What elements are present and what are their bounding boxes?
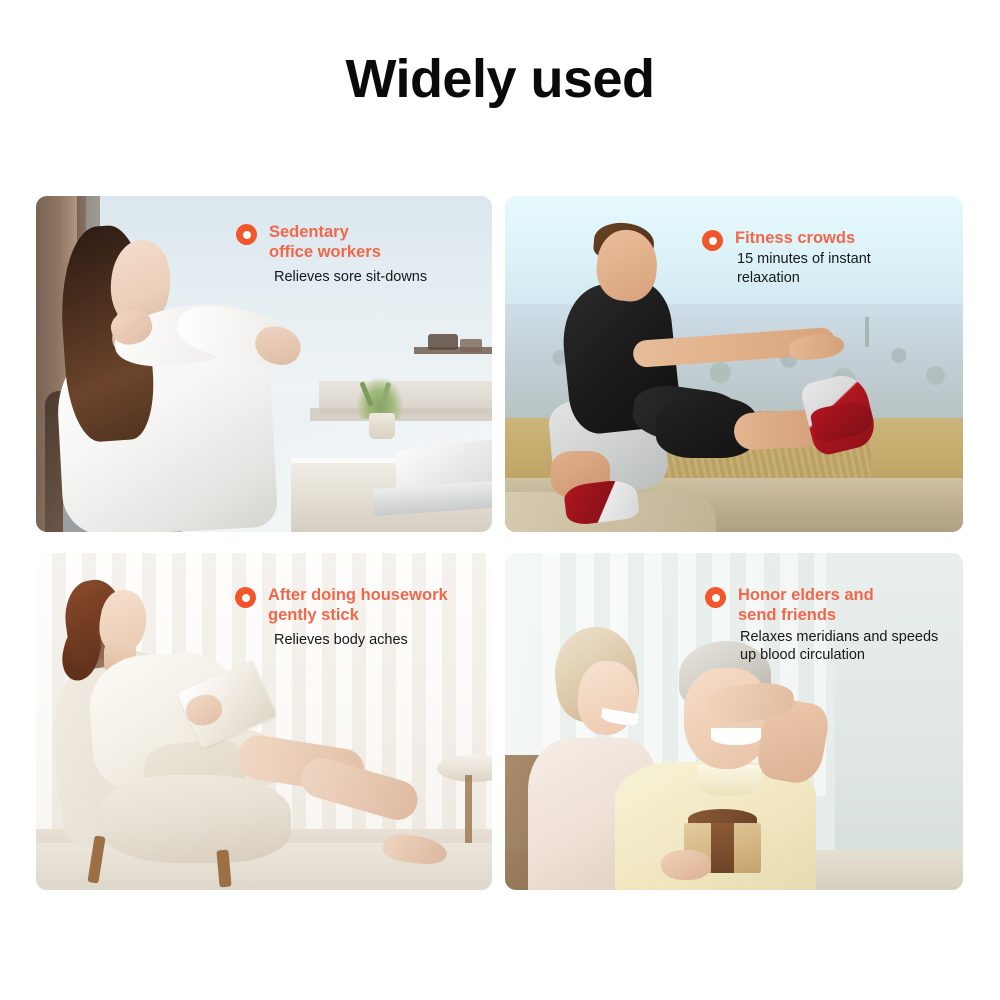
scenario-heading: Fitness crowds <box>735 229 855 247</box>
page-title: Widely used <box>0 52 1000 106</box>
scenario-heading: After doing housework gently stick <box>268 586 448 624</box>
usage-scenario-grid: Sedentary office workers Relieves sore s… <box>36 196 963 890</box>
scenario-subtitle: 15 minutes of instant relaxation <box>737 250 871 287</box>
ring-bullet-icon <box>705 587 726 608</box>
scenario-text-block: After doing housework gently stick Relie… <box>235 585 448 649</box>
scenario-heading: Honor elders and send friends <box>738 586 874 624</box>
scenario-card-after-doing-housework[interactable]: After doing housework gently stick Relie… <box>36 553 492 890</box>
ring-bullet-icon <box>235 587 256 608</box>
scenario-subtitle: Relieves body aches <box>274 631 448 650</box>
scenario-card-sedentary-office-workers[interactable]: Sedentary office workers Relieves sore s… <box>36 196 492 532</box>
scenario-subtitle: Relaxes meridians and speeds up blood ci… <box>740 628 938 665</box>
scenario-card-fitness-crowds[interactable]: Fitness crowds 15 minutes of instant rel… <box>505 196 963 532</box>
scenario-subtitle: Relieves sore sit-downs <box>274 268 427 287</box>
scenario-text-block: Fitness crowds 15 minutes of instant rel… <box>702 228 871 287</box>
scenario-text-block: Sedentary office workers Relieves sore s… <box>236 222 427 286</box>
ring-bullet-icon <box>702 230 723 251</box>
scenario-card-honor-elders-send-friends[interactable]: Honor elders and send friends Relaxes me… <box>505 553 963 890</box>
scenario-text-block: Honor elders and send friends Relaxes me… <box>705 585 938 665</box>
ring-bullet-icon <box>236 224 257 245</box>
scenario-heading: Sedentary office workers <box>269 223 381 261</box>
